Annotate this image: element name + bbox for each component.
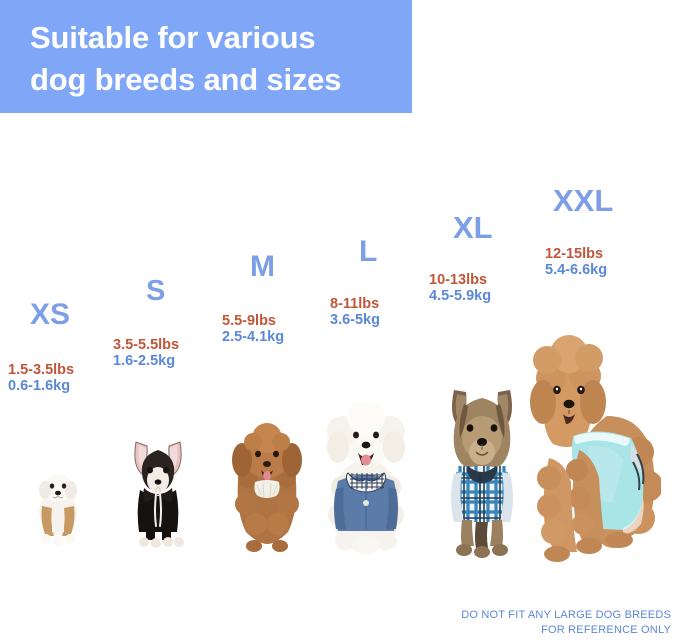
weight-lbs-m: 5.5-9lbs [222, 314, 284, 330]
size-weights-m: 5.5-9lbs 2.5-4.1kg [222, 314, 284, 345]
disclaimer-line-2: FOR REFERENCE ONLY [461, 623, 671, 638]
weight-kg-xl: 4.5-5.9kg [429, 289, 493, 305]
size-weights-xl: 10-13lbs 4.5-5.9kg [429, 273, 493, 304]
size-block-m: M 5.5-9lbs 2.5-4.1kg [222, 252, 284, 345]
weight-kg-l: 3.6-5kg [330, 313, 380, 329]
header-banner: Suitable for various dog breeds and size… [0, 0, 412, 113]
weight-lbs-l: 8-11lbs [330, 297, 380, 313]
weight-lbs-s: 3.5-5.5lbs [113, 338, 179, 354]
size-label-s: S [146, 277, 179, 306]
dog-photo-m [226, 420, 308, 555]
weight-lbs-xxl: 12-15lbs [545, 247, 613, 263]
size-label-l: L [359, 237, 380, 267]
weight-kg-m: 2.5-4.1kg [222, 330, 284, 346]
dog-photo-xxl [527, 332, 661, 564]
size-chart-page: Suitable for various dog breeds and size… [0, 0, 679, 642]
dog-photo-l [318, 403, 414, 558]
size-weights-s: 3.5-5.5lbs 1.6-2.5kg [113, 338, 179, 369]
weight-lbs-xs: 1.5-3.5lbs [8, 363, 74, 379]
weight-kg-xxl: 5.4-6.6kg [545, 263, 613, 279]
weight-kg-xs: 0.6-1.6kg [8, 379, 74, 395]
size-label-m: M [250, 252, 284, 282]
page-title: Suitable for various dog breeds and size… [30, 17, 402, 101]
size-block-xl: XL 10-13lbs 4.5-5.9kg [429, 212, 493, 304]
size-block-xxl: XXL 12-15lbs 5.4-6.6kg [545, 185, 613, 278]
disclaimer-text: DO NOT FIT ANY LARGE DOG BREEDS FOR REFE… [461, 608, 671, 638]
size-label-xxl: XXL [553, 185, 613, 216]
size-label-xl: XL [453, 212, 493, 243]
dog-photo-s [122, 432, 194, 550]
dog-photo-xs [28, 466, 88, 546]
size-block-xs: XS 1.5-3.5lbs 0.6-1.6kg [8, 300, 74, 394]
weight-lbs-xl: 10-13lbs [429, 273, 493, 289]
size-label-xs: XS [30, 300, 74, 330]
dog-photo-xl [434, 370, 530, 560]
size-block-l: L 8-11lbs 3.6-5kg [330, 237, 380, 328]
size-block-s: S 3.5-5.5lbs 1.6-2.5kg [113, 277, 179, 369]
size-weights-xs: 1.5-3.5lbs 0.6-1.6kg [8, 363, 74, 394]
size-weights-xxl: 12-15lbs 5.4-6.6kg [545, 247, 613, 278]
disclaimer-line-1: DO NOT FIT ANY LARGE DOG BREEDS [461, 608, 671, 623]
size-weights-l: 8-11lbs 3.6-5kg [330, 297, 380, 328]
weight-kg-s: 1.6-2.5kg [113, 354, 179, 370]
